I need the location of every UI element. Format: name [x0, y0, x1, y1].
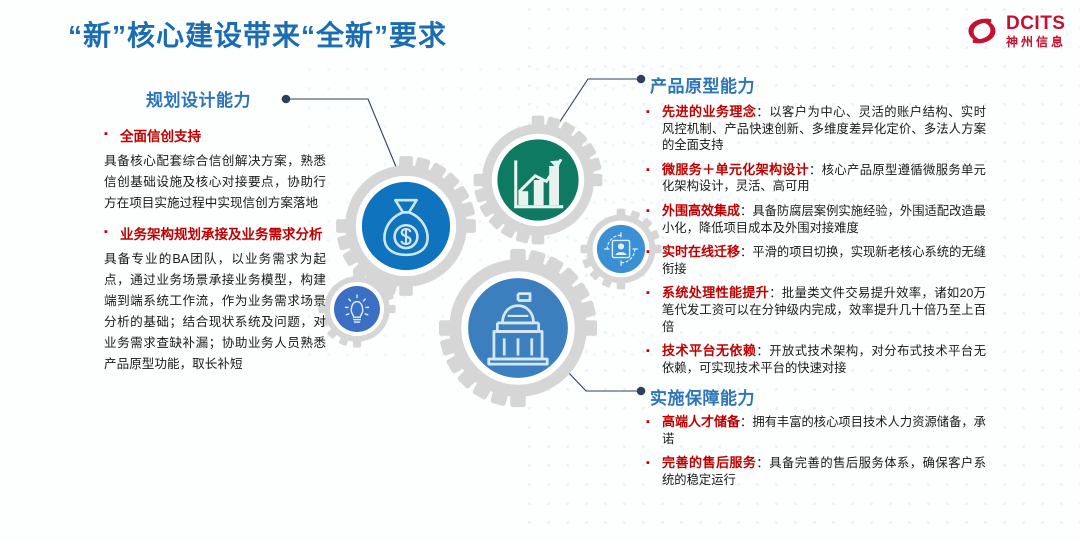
delivery-bullet-list: ▪高端人才储备：拥有丰富的核心项目技术人力资源储备，承诺▪完善的售后服务：具备完…: [646, 414, 986, 496]
list-item: ▪完善的售后服务：具备完善的售后服务体系，确保客户系统的稳定运行: [646, 455, 986, 488]
bullet-text: 完善的售后服务：具备完善的售后服务体系，确保客户系统的稳定运行: [662, 455, 986, 488]
bullet-label: 外围高效集成: [662, 203, 740, 218]
section-heading-product: 产品原型能力: [650, 72, 755, 97]
connector-dot-product: [637, 75, 646, 84]
bullet-paragraph: 具备专业的BA团队，以业务需求为起点，通过业务场景承接业务模型，构建端到端系统工…: [104, 249, 326, 375]
list-item: ▪微服务＋单元化架构设计：核心产品原型遵循微服务单元化架构设计，灵活、高可用: [646, 162, 986, 195]
bullet-dot-icon: ▪: [646, 104, 662, 154]
bullet-text: 先进的业务理念：以客户为中心、灵活的账户结构、实时风控机制、产品快速创新、多维度…: [662, 104, 986, 154]
bullet-text: 技术平台无依赖：开放式技术架构，对分布式技术平台无依赖，可实现技术平台的快速对接: [662, 343, 986, 376]
connector-dot-planning: [282, 95, 291, 104]
list-item: ▪技术平台无依赖：开放式技术架构，对分布式技术平台无依赖，可实现技术平台的快速对…: [646, 343, 986, 376]
logo-text-cn: 神州信息: [1006, 36, 1066, 48]
bullet-dot-icon: ▪: [646, 343, 662, 376]
connector-dot-delivery: [637, 387, 646, 396]
section-heading-planning: 规划设计能力: [146, 86, 251, 111]
bullet-label: 先进的业务理念: [662, 104, 756, 119]
bullet-dot-icon: ▪: [646, 414, 662, 447]
bullet-label: 完善的售后服务: [662, 455, 756, 470]
bullet-text: 实时在线迁移：平滑的项目切换，实现新老核心系统的无缝衔接: [662, 244, 986, 277]
bullet-dot-icon: ▪: [646, 244, 662, 277]
bullet-text: 微服务＋单元化架构设计：核心产品原型遵循微服务单元化架构设计，灵活、高可用: [662, 162, 986, 195]
bullet-paragraph: 具备核心配套综合信创解决方案，熟悉信创基础设施及核心对接要点，协助行方在项目实施…: [104, 151, 326, 214]
bullet-text: 高端人才储备：拥有丰富的核心项目技术人力资源储备，承诺: [662, 414, 986, 447]
bullet-dot-icon: ▪: [104, 224, 120, 245]
planning-bullet-list: ▪ 全面信创支持 具备核心配套综合信创解决方案，熟悉信创基础设施及核心对接要点，…: [104, 126, 326, 385]
section-heading-delivery: 实施保障能力: [650, 384, 755, 409]
bullet-label: 系统处理性能提升: [662, 285, 769, 300]
list-item: ▪ 业务架构规划承接及业务需求分析 具备专业的BA团队，以业务需求为起点，通过业…: [104, 224, 326, 375]
bullet-dot-icon: ▪: [646, 455, 662, 488]
page-title: “新”核心建设带来“全新”要求: [68, 14, 447, 54]
product-bullet-list: ▪先进的业务理念：以客户为中心、灵活的账户结构、实时风控机制、产品快速创新、多维…: [646, 104, 986, 384]
lightbulb-gear-disc: [334, 286, 380, 332]
list-item: ▪ 全面信创支持 具备核心配套综合信创解决方案，熟悉信创基础设施及核心对接要点，…: [104, 126, 326, 214]
bullet-text: 系统处理性能提升：批量类文件交易提升效率，诸如20万笔代发工资可以在分钟级内完成…: [662, 285, 986, 335]
bullet-label: 高端人才储备: [662, 414, 740, 429]
lightbulb-gear: [316, 268, 398, 355]
list-item: ▪实时在线迁移：平滑的项目切换，实现新老核心系统的无缝衔接: [646, 244, 986, 277]
bullet-dot-icon: ▪: [646, 285, 662, 335]
list-item: ▪先进的业务理念：以客户为中心、灵活的账户结构、实时风控机制、产品快速创新、多维…: [646, 104, 986, 154]
bullet-label: 微服务＋单元化架构设计: [662, 162, 809, 177]
logo-text-en: DCITS: [1006, 14, 1066, 33]
bullet-dot-icon: ▪: [646, 203, 662, 236]
list-item: ▪外围高效集成：具备防腐层案例实施经验，外围适配改造最小化，降低项目成本及外围对…: [646, 203, 986, 236]
bullet-dot-icon: ▪: [646, 162, 662, 195]
bullet-label: 技术平台无依赖: [662, 343, 756, 358]
bullet-dot-icon: ▪: [104, 126, 120, 147]
bullet-heading: 全面信创支持: [120, 126, 201, 147]
bullet-text: 外围高效集成：具备防腐层案例实施经验，外围适配改造最小化，降低项目成本及外围对接…: [662, 203, 986, 236]
slide-canvas: “新”核心建设带来“全新”要求 DCITS 神州信息: [0, 0, 1080, 540]
bullet-label: 实时在线迁移: [662, 244, 740, 259]
list-item: ▪系统处理性能提升：批量类文件交易提升效率，诸如20万笔代发工资可以在分钟级内完…: [646, 285, 986, 335]
company-logo: DCITS 神州信息: [965, 14, 1066, 48]
bullet-heading: 业务架构规划承接及业务需求分析: [120, 224, 323, 245]
dcits-swirl-logo-icon: [965, 15, 999, 47]
list-item: ▪高端人才储备：拥有丰富的核心项目技术人力资源储备，承诺: [646, 414, 986, 447]
